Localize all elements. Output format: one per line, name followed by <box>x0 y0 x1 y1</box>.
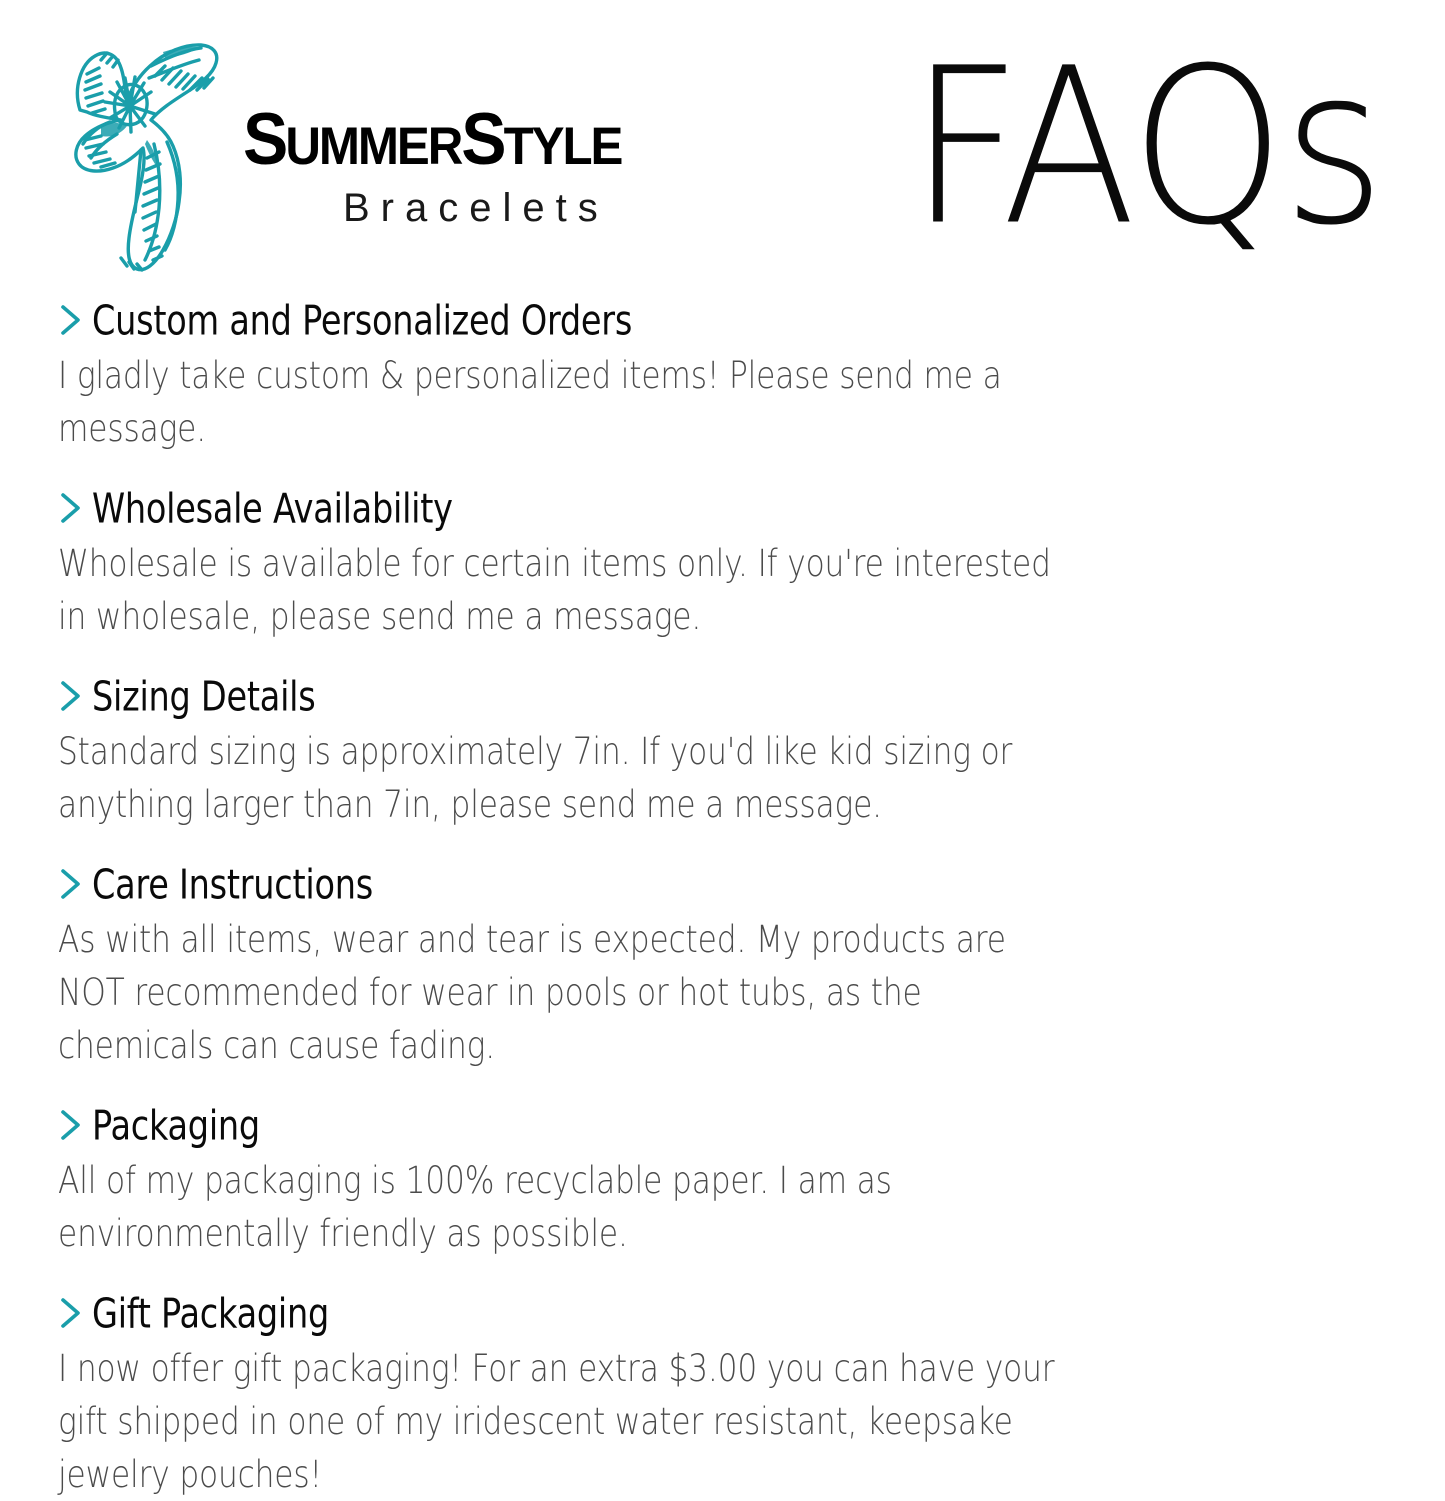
chevron-right-icon <box>58 1296 84 1330</box>
faq-body-text: I gladly take custom & personalized item… <box>58 349 1080 455</box>
faq-item-gift-packaging: Gift Packaging I now offer gift packagin… <box>58 1290 1268 1501</box>
faq-body-text: Wholesale is available for certain items… <box>58 537 1080 643</box>
chevron-right-icon <box>58 1108 84 1142</box>
faq-item-sizing: Sizing Details Standard sizing is approx… <box>58 673 1268 831</box>
chevron-right-icon <box>58 491 84 525</box>
faq-item-care: Care Instructions As with all items, wea… <box>58 861 1268 1072</box>
faq-heading-text: Gift Packaging <box>92 1289 329 1342</box>
brand-wordmark-text: SUMMERSTYLE <box>243 100 621 180</box>
chevron-right-icon <box>58 679 84 713</box>
faq-page: SUMMERSTYLE Bracelets FAQs Custom and Pe… <box>0 0 1445 1445</box>
faq-body-text: All of my packaging is 100% recyclable p… <box>58 1154 1080 1260</box>
wordmark-s2: S <box>461 99 503 180</box>
faq-list: Custom and Personalized Orders I gladly … <box>58 297 1268 1501</box>
faq-heading-row[interactable]: Sizing Details <box>58 673 1268 723</box>
chevron-right-icon <box>58 867 84 901</box>
wordmark-tyle: TYLE <box>504 117 622 176</box>
brand-subtitle: Bracelets <box>343 186 609 231</box>
page-header: SUMMERSTYLE Bracelets FAQs <box>0 0 1445 290</box>
faq-body-text: Standard sizing is approximately 7in. If… <box>58 725 1080 831</box>
faq-body-text: I now offer gift packaging! For an extra… <box>58 1342 1080 1501</box>
wordmark-s1: S <box>243 99 285 180</box>
brand-wordmark: SUMMERSTYLE Bracelets <box>195 100 665 245</box>
faq-heading-text: Care Instructions <box>92 860 373 913</box>
faq-heading-row[interactable]: Packaging <box>58 1102 1268 1152</box>
faq-heading-text: Wholesale Availability <box>92 484 453 537</box>
faq-item-packaging: Packaging All of my packaging is 100% re… <box>58 1102 1268 1260</box>
faq-heading-row[interactable]: Custom and Personalized Orders <box>58 297 1268 347</box>
faq-heading-row[interactable]: Wholesale Availability <box>58 485 1268 535</box>
faq-heading-row[interactable]: Care Instructions <box>58 861 1268 911</box>
faq-item-wholesale: Wholesale Availability Wholesale is avai… <box>58 485 1268 643</box>
page-title: FAQs <box>909 40 1383 256</box>
wordmark-ummer: UMMER <box>285 117 461 176</box>
faq-heading-text: Sizing Details <box>92 672 315 725</box>
faq-item-custom-orders: Custom and Personalized Orders I gladly … <box>58 297 1268 455</box>
chevron-right-icon <box>58 303 84 337</box>
faq-heading-text: Custom and Personalized Orders <box>92 296 632 349</box>
brand-logo-block: SUMMERSTYLE Bracelets <box>55 22 675 284</box>
faq-body-text: As with all items, wear and tear is expe… <box>58 913 1080 1072</box>
faq-heading-text: Packaging <box>92 1101 260 1154</box>
faq-heading-row[interactable]: Gift Packaging <box>58 1290 1268 1340</box>
